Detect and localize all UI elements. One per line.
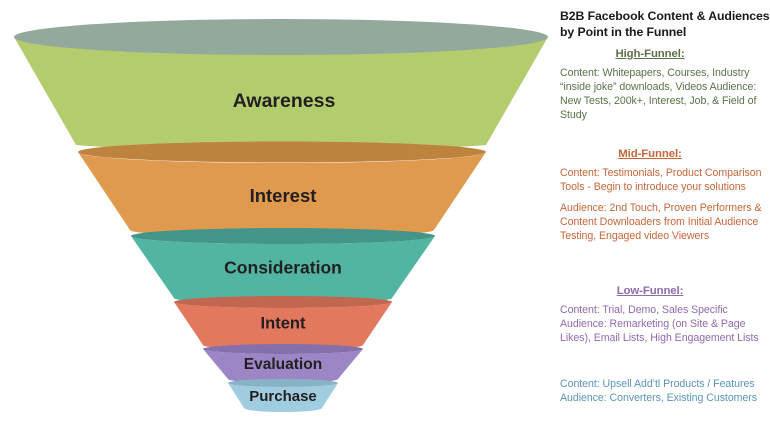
- funnel-stage-purchase-label: Purchase: [249, 388, 317, 405]
- funnel-stage-purchase-rim: [228, 379, 338, 387]
- funnel-stage-interest[interactable]: Interest: [78, 142, 486, 238]
- funnel-stage-awareness-label: Awareness: [233, 90, 336, 112]
- low-funnel-heading: Low-Funnel:: [556, 285, 770, 297]
- content-panel: B2B Facebook Content & Audiences by Poin…: [556, 0, 770, 427]
- funnel-stage-interest-label: Interest: [250, 185, 317, 206]
- funnel-stage-intent-rim: [174, 296, 392, 308]
- funnel-stage-consideration[interactable]: Consideration: [131, 228, 435, 304]
- funnel-stage-interest-rim: [78, 142, 486, 163]
- funnel-stage-purchase[interactable]: Purchase: [228, 379, 338, 412]
- high-funnel-body: Content: Whitepapers, Courses, Industry …: [556, 66, 770, 122]
- high-funnel-heading: High-Funnel:: [556, 48, 770, 60]
- low-funnel-section: Low-Funnel: Content: Trial, Demo, Sales …: [556, 285, 770, 345]
- funnel-stage-evaluation-rim: [203, 344, 363, 354]
- page-title: B2B Facebook Content & Audiences by Poin…: [560, 8, 770, 40]
- customer-body: Content: Upsell Add’tl Products / Featur…: [556, 377, 770, 405]
- funnel-stage-evaluation[interactable]: Evaluation: [203, 344, 363, 383]
- mid-funnel-section: Mid-Funnel: Content: Testimonials, Produ…: [556, 148, 770, 243]
- funnel-stage-awareness-rim: [14, 19, 548, 55]
- funnel-stage-consideration-label: Consideration: [224, 258, 342, 278]
- funnel-stage-consideration-rim: [131, 228, 435, 244]
- funnel-svg: Awareness Interest Consideration Intent …: [0, 0, 560, 427]
- customer-section: Content: Upsell Add’tl Products / Featur…: [556, 377, 770, 405]
- funnel-stage-intent-label: Intent: [261, 314, 306, 332]
- low-funnel-body: Content: Trial, Demo, Sales Specific Aud…: [556, 303, 770, 345]
- high-funnel-section: High-Funnel: Content: Whitepapers, Cours…: [556, 48, 770, 122]
- mid-funnel-audience-body: Audience: 2nd Touch, Proven Performers &…: [556, 201, 770, 243]
- mid-funnel-heading: Mid-Funnel:: [556, 148, 770, 160]
- funnel-stage-awareness[interactable]: Awareness: [14, 19, 548, 150]
- mid-funnel-content-body: Content: Testimonials, Product Compariso…: [556, 166, 770, 194]
- funnel-stage-evaluation-label: Evaluation: [244, 356, 322, 373]
- funnel-stage-intent[interactable]: Intent: [174, 296, 392, 350]
- funnel-diagram: Awareness Interest Consideration Intent …: [0, 0, 560, 427]
